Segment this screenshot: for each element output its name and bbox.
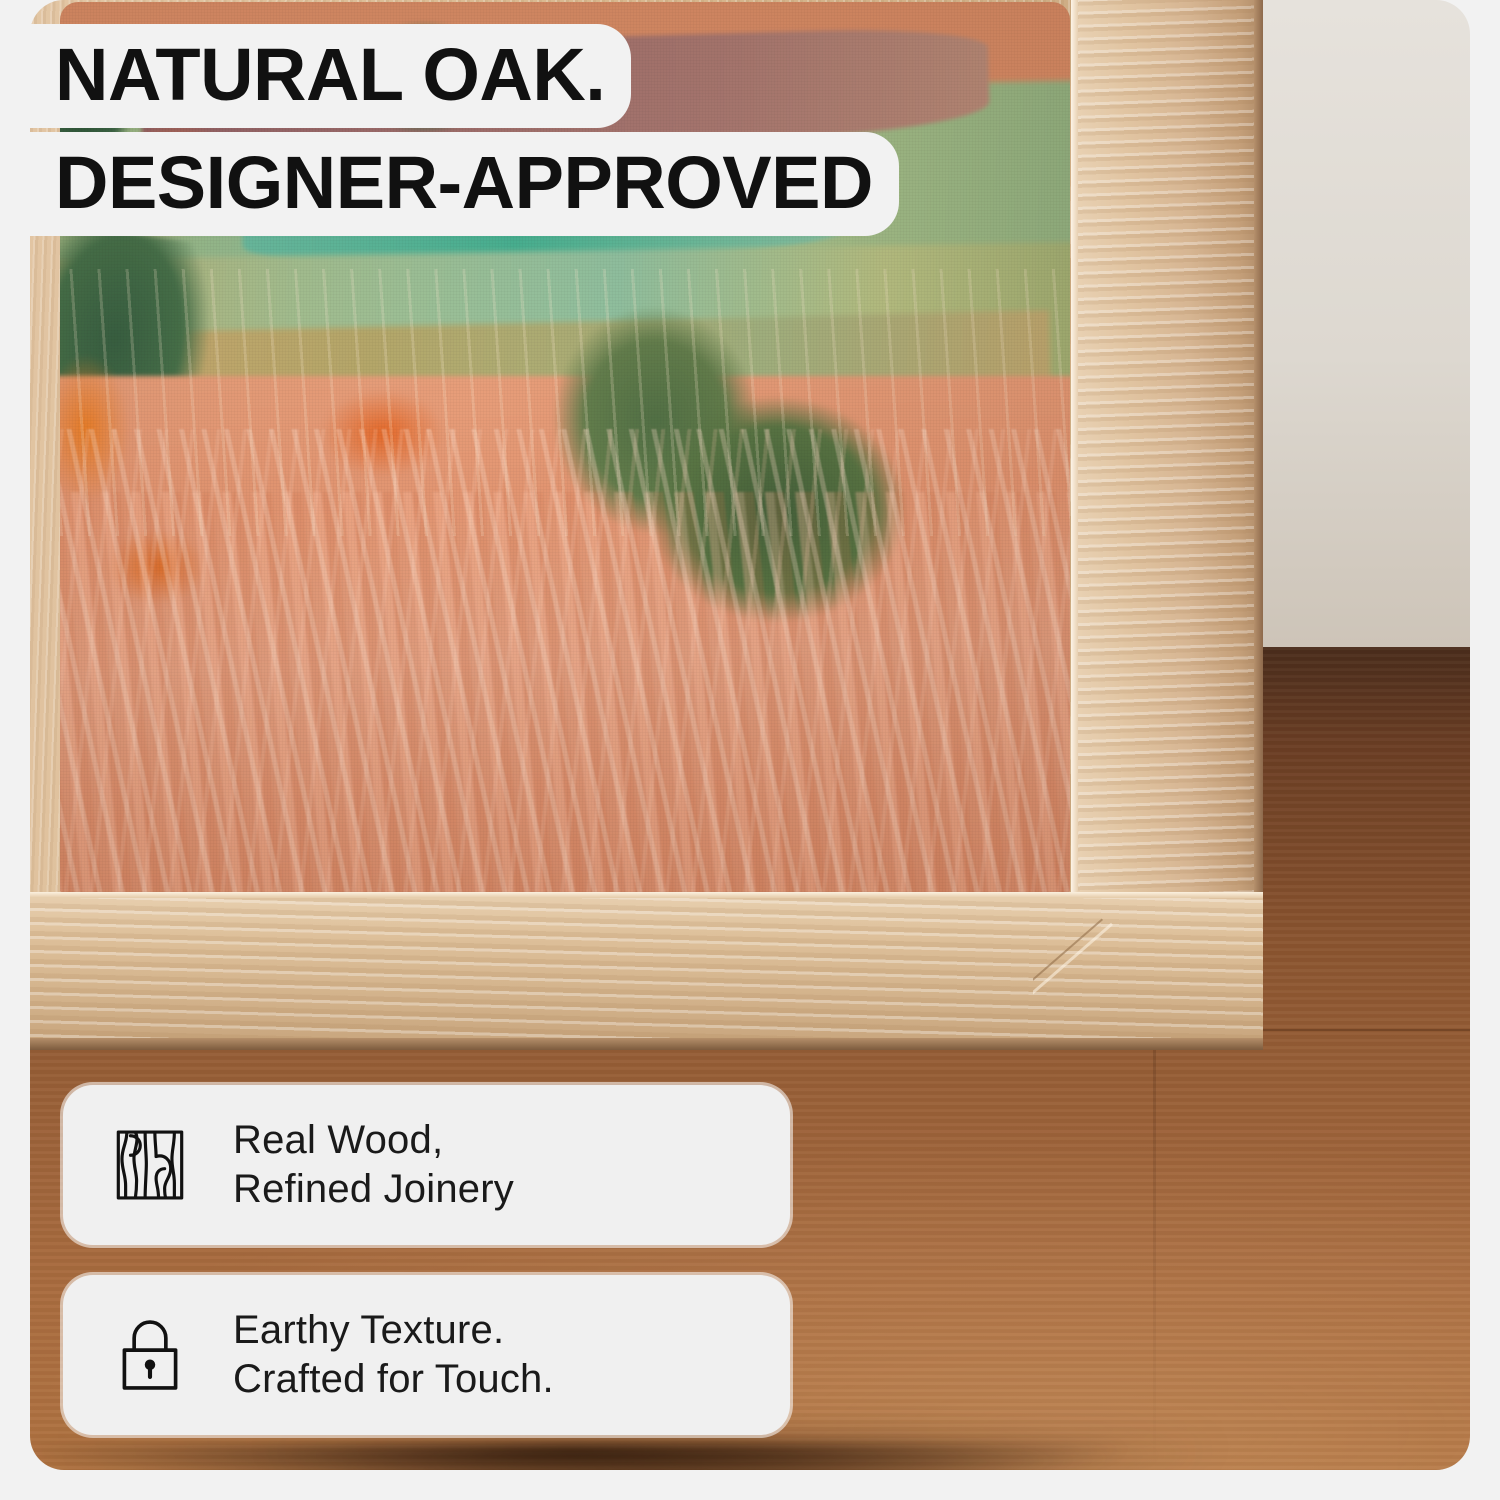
padlock-icon bbox=[111, 1316, 189, 1394]
wood-grain-icon bbox=[111, 1126, 189, 1204]
feature-badge-label: Real Wood, Refined Joinery bbox=[233, 1116, 514, 1214]
frame-mitre-joint bbox=[1033, 850, 1263, 1050]
headline-block: NATURAL OAK. DESIGNER-APPROVED bbox=[0, 24, 899, 236]
feature-badge-real-wood: Real Wood, Refined Joinery bbox=[63, 1085, 790, 1245]
feature-badge-label: Earthy Texture. Crafted for Touch. bbox=[233, 1306, 554, 1404]
feature-badge-earthy-texture: Earthy Texture. Crafted for Touch. bbox=[63, 1275, 790, 1435]
feature-badge-list: Real Wood, Refined Joinery Earthy Textur… bbox=[63, 1085, 790, 1465]
headline-line-1: NATURAL OAK. bbox=[0, 24, 631, 128]
headline-line-2: DESIGNER-APPROVED bbox=[0, 132, 899, 236]
